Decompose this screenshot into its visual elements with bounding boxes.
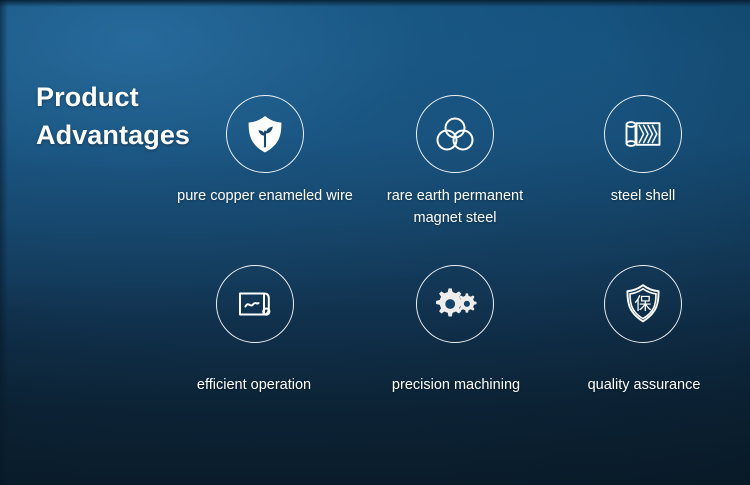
product-advantages-banner: Product Advantages pure (0, 0, 750, 485)
feature-label-efficient-operation: efficient operation (168, 375, 340, 397)
shield-bao-character-icon: 保 (604, 265, 682, 343)
feature-label-pure-copper-enameled-wire: pure copper enameled wire (155, 186, 375, 208)
blueprint-chart-icon (216, 265, 294, 343)
page-title: Product Advantages (36, 78, 236, 155)
shield-leaf-icon (226, 95, 304, 173)
feature-label-precision-machining: precision machining (370, 375, 542, 397)
feature-label-rare-earth-permanent-magnet-steel: rare earth permanent magnet steel (355, 186, 555, 230)
three-overlapping-circles-icon (416, 95, 494, 173)
page-title-line-2: Advantages (36, 116, 236, 154)
gears-icon (416, 265, 494, 343)
svg-text:保: 保 (635, 295, 652, 315)
feature-label-quality-assurance: quality assurance (558, 375, 730, 397)
page-title-line-1: Product (36, 78, 236, 116)
banner-content: Product Advantages pure (0, 0, 750, 485)
feature-label-steel-shell: steel shell (553, 186, 733, 208)
steel-roll-icon (604, 95, 682, 173)
